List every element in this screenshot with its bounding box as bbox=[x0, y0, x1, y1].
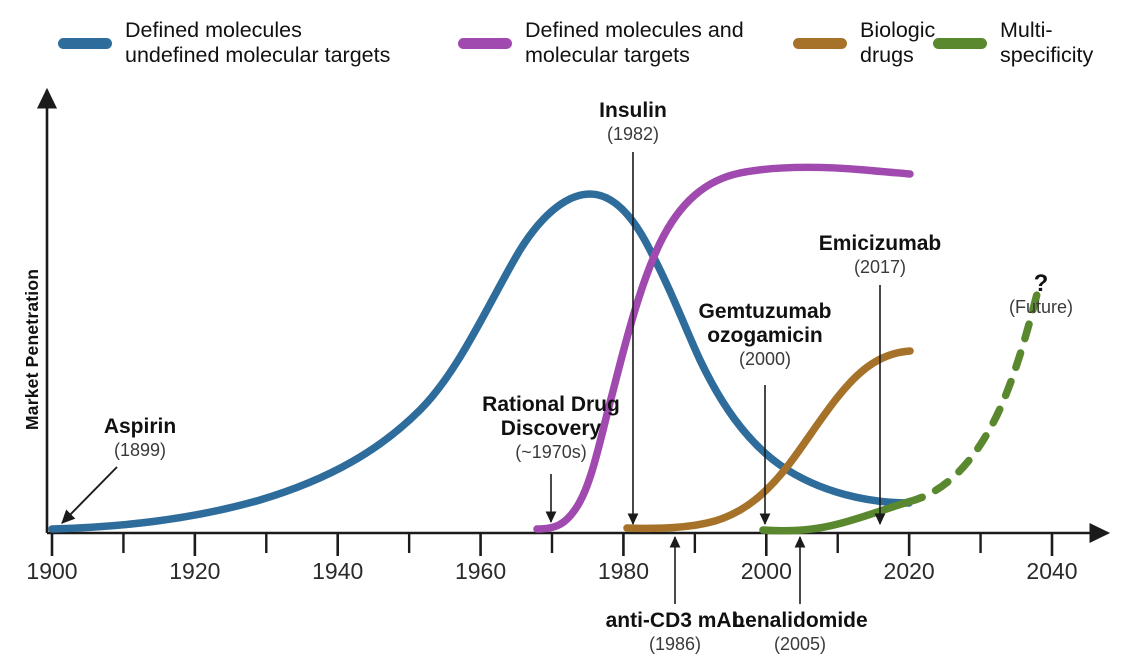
annotation-emicizumab-name: Emicizumab bbox=[790, 232, 970, 256]
annotation-gemtuzumab-ozogamicin-name: Gemtuzumab ozogamicin bbox=[675, 300, 855, 348]
legend-item-0[interactable]: Defined molecules undefined molecular ta… bbox=[58, 18, 390, 68]
axis-group bbox=[47, 90, 1108, 556]
curve-multi-specificity bbox=[763, 502, 908, 531]
annotation-gemtuzumab-ozogamicin: Gemtuzumab ozogamicin (2000) bbox=[675, 300, 855, 370]
series-curves bbox=[52, 167, 1038, 530]
legend-swatch-blue bbox=[58, 38, 112, 49]
annotation-future-year: (Future) bbox=[983, 296, 1099, 318]
x-tick-label-1960: 1960 bbox=[455, 558, 506, 585]
annotation-lenalidomide-name: Lenalidomide bbox=[710, 609, 890, 633]
x-tick-label-1980: 1980 bbox=[598, 558, 649, 585]
annotation-future: ? (Future) bbox=[983, 272, 1099, 318]
annotation-emicizumab-year: (2017) bbox=[790, 256, 970, 278]
x-tick-label-1920: 1920 bbox=[169, 558, 220, 585]
legend-swatch-purple bbox=[458, 38, 512, 49]
annotation-insulin-year: (1982) bbox=[553, 123, 713, 145]
curve-multi-specificity-projected bbox=[908, 290, 1038, 502]
legend-swatch-green bbox=[933, 38, 987, 49]
annotation-lenalidomide-year: (2005) bbox=[710, 633, 890, 655]
x-axis-ticks bbox=[52, 534, 1052, 556]
annotation-gemtuzumab-ozogamicin-year: (2000) bbox=[675, 348, 855, 370]
legend-label-0: Defined molecules undefined molecular ta… bbox=[125, 18, 390, 68]
curve-biologic-drugs bbox=[627, 351, 910, 528]
annotation-emicizumab: Emicizumab (2017) bbox=[790, 232, 970, 278]
annotation-insulin-name: Insulin bbox=[553, 99, 713, 123]
annotation-aspirin-name: Aspirin bbox=[60, 415, 220, 439]
x-tick-label-2020: 2020 bbox=[884, 558, 935, 585]
annotation-rational-drug-discovery-year: (~1970s) bbox=[461, 441, 641, 463]
legend-label-3: Multi- specificity bbox=[1000, 18, 1093, 68]
annotation-lenalidomide: Lenalidomide (2005) bbox=[710, 609, 890, 655]
annotation-rational-drug-discovery-name: Rational Drug Discovery bbox=[461, 393, 641, 441]
annotation-aspirin: Aspirin (1899) bbox=[60, 415, 220, 461]
y-axis-label: Market Penetration bbox=[22, 269, 43, 430]
chart-root: Defined molecules undefined molecular ta… bbox=[0, 0, 1140, 666]
leader-aspirin bbox=[62, 467, 117, 523]
x-tick-label-1940: 1940 bbox=[312, 558, 363, 585]
annotation-insulin: Insulin (1982) bbox=[553, 99, 713, 145]
legend-item-1[interactable]: Defined molecules and molecular targets bbox=[458, 18, 744, 68]
legend-item-3[interactable]: Multi- specificity bbox=[933, 18, 1093, 68]
legend: Defined molecules undefined molecular ta… bbox=[0, 0, 1140, 72]
annotation-future-name: ? bbox=[983, 272, 1099, 296]
annotation-leaders bbox=[62, 152, 880, 604]
legend-item-2[interactable]: Biologic drugs bbox=[793, 18, 935, 68]
legend-label-2: Biologic drugs bbox=[860, 18, 935, 68]
legend-label-1: Defined molecules and molecular targets bbox=[525, 18, 744, 68]
legend-swatch-brown bbox=[793, 38, 847, 49]
x-tick-label-2000: 2000 bbox=[741, 558, 792, 585]
x-tick-label-1900: 1900 bbox=[26, 558, 77, 585]
annotation-rational-drug-discovery: Rational Drug Discovery (~1970s) bbox=[461, 393, 641, 463]
x-tick-label-2040: 2040 bbox=[1026, 558, 1077, 585]
annotation-aspirin-year: (1899) bbox=[60, 439, 220, 461]
